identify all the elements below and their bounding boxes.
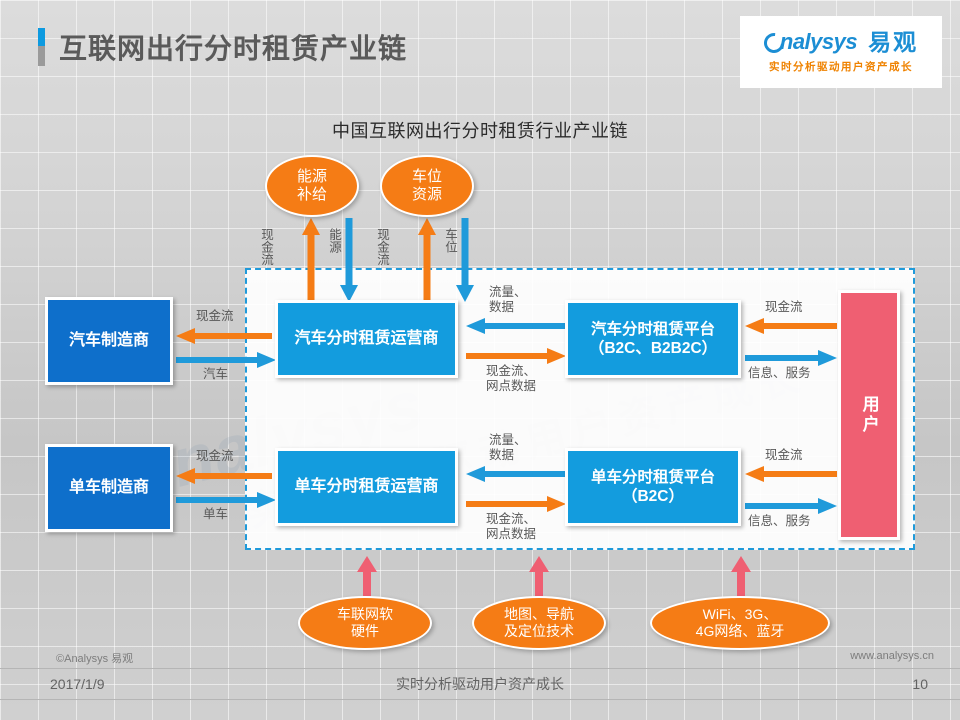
arrow-energy-cash: [302, 218, 320, 302]
node-parking-resource[interactable]: 车位 资源: [380, 155, 474, 217]
arrow-car-cash-site: [466, 348, 566, 364]
arrow-bike-traffic-data: [466, 466, 566, 482]
footer-website[interactable]: www.analysys.cn: [850, 650, 934, 662]
label-bike-traffic-data: 流量、 数据: [489, 433, 527, 463]
slide-canvas: 互联网出行分时租赁产业链 nalysys 易观 实时分析驱动用户资产成长 中国互…: [0, 0, 960, 720]
slide-header: 互联网出行分时租赁产业链: [38, 27, 407, 67]
logo-chinese-text: 易观: [868, 31, 918, 54]
arrow-bike-mfg-cash: [176, 468, 272, 484]
arrow-map-support: [529, 556, 549, 596]
node-energy-supply[interactable]: 能源 补给: [265, 155, 359, 217]
logo-english-text: nalysys: [780, 31, 857, 53]
label-bike-user-cash: 现金流: [765, 448, 803, 463]
node-car-rental-platform[interactable]: 汽车分时租赁平台 （B2C、B2B2C）: [565, 300, 741, 378]
node-user[interactable]: 用户: [838, 290, 900, 540]
label-car-traffic-data: 流量、 数据: [489, 285, 527, 315]
logo-tagline: 实时分析驱动用户资产成长: [769, 59, 913, 74]
label-car-user-info: 信息、服务: [748, 366, 811, 381]
node-iov-software-hardware[interactable]: 车联网软 硬件: [298, 596, 432, 650]
arrow-car-user-info: [745, 350, 837, 366]
node-car-manufacturer[interactable]: 汽车制造商: [45, 297, 173, 385]
analysys-logo: nalysys 易观 实时分析驱动用户资产成长: [740, 16, 942, 88]
arrow-parking-resource: [456, 218, 474, 302]
footer-page-number: 10: [912, 676, 928, 692]
node-map-navigation-positioning[interactable]: 地图、导航 及定位技术: [472, 596, 606, 650]
label-parking-spot: 车位: [442, 228, 457, 253]
page-title: 互联网出行分时租赁产业链: [59, 27, 407, 67]
node-bike-rental-platform[interactable]: 单车分时租赁平台 （B2C）: [565, 448, 741, 526]
label-bike-mfg-goods: 单车: [203, 507, 228, 522]
label-car-cash-site: 现金流、 网点数据: [486, 364, 536, 394]
arrow-car-traffic-data: [466, 318, 566, 334]
arrow-bike-user-info: [745, 498, 837, 514]
footer-bar: 2017/1/9 实时分析驱动用户资产成长 10: [0, 669, 960, 699]
label-car-user-cash: 现金流: [765, 300, 803, 315]
label-parking-cash: 现金流: [374, 228, 389, 266]
label-energy-supply: 能源: [326, 228, 341, 253]
label-bike-user-info: 信息、服务: [748, 514, 811, 529]
arrow-bike-cash-site: [466, 496, 566, 512]
label-bike-mfg-cash: 现金流: [196, 449, 234, 464]
title-accent-bar: [38, 28, 45, 66]
arrow-car-mfg-cash: [176, 328, 272, 344]
label-bike-cash-site: 现金流、 网点数据: [486, 512, 536, 542]
footer-copyright: ©Analysys 易观: [56, 650, 133, 666]
node-bike-rental-operator[interactable]: 单车分时租赁运营商: [275, 448, 458, 526]
arrow-parking-cash: [418, 218, 436, 302]
label-car-mfg-cash: 现金流: [196, 309, 234, 324]
node-bike-manufacturer[interactable]: 单车制造商: [45, 444, 173, 532]
footer-slogan: 实时分析驱动用户资产成长: [0, 674, 960, 694]
footer-divider-bottom: [0, 699, 960, 700]
arrow-car-mfg-goods: [176, 352, 276, 368]
arrow-bike-mfg-goods: [176, 492, 276, 508]
chart-title: 中国互联网出行分时租赁行业产业链: [0, 117, 960, 143]
arrow-network-support: [731, 556, 751, 596]
node-car-rental-operator[interactable]: 汽车分时租赁运营商: [275, 300, 458, 378]
arrow-energy-supply: [340, 218, 358, 302]
arrow-iov-support: [357, 556, 377, 596]
label-car-mfg-goods: 汽车: [203, 367, 228, 382]
logo-wordmark: nalysys 易观: [764, 31, 918, 54]
node-network-connectivity[interactable]: WiFi、3G、 4G网络、蓝牙: [650, 596, 830, 650]
arrow-car-user-cash: [745, 318, 837, 334]
arrow-bike-user-cash: [745, 466, 837, 482]
label-energy-cash: 现金流: [258, 228, 273, 266]
